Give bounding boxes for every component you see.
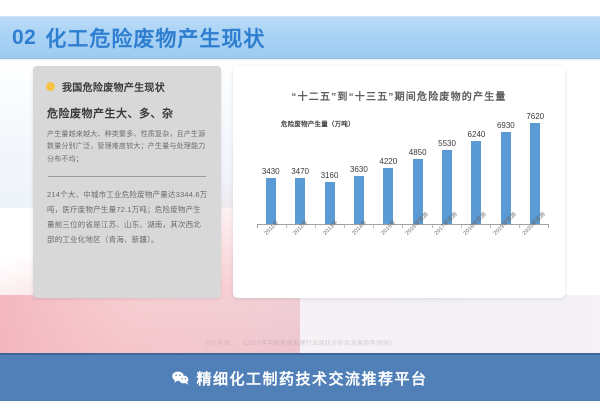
chart-card: “十二五”到“十三五”期间危险废物的产生量 危险废物产生量（万吨） 343034… xyxy=(233,66,565,298)
bar-column: 6240 xyxy=(463,112,490,224)
bar-value-label: 3630 xyxy=(350,165,368,174)
x-label-slot: 2016年预测 xyxy=(404,228,431,268)
bar-column: 3430 xyxy=(257,112,284,224)
x-label-slot: 2013年 xyxy=(316,228,343,268)
chart-plot-area: 3430347031603630422048505530624069307620 xyxy=(257,112,549,224)
bar-value-label: 5530 xyxy=(438,139,456,148)
section-number: 02 xyxy=(12,26,36,50)
info-panel-subheading: 危险废物产生大、多、杂 xyxy=(47,105,208,121)
bar-series: 3430347031603630422048505530624069307620 xyxy=(257,112,549,224)
bar-value-label: 6930 xyxy=(497,121,515,130)
chart-title: “十二五”到“十三五”期间危险废物的产生量 xyxy=(233,88,565,103)
x-label-slot: 2011年 xyxy=(257,228,284,268)
info-panel: 我国危险废物产生现状 危险废物产生大、多、杂 产生量越来越大、种类繁多、性质复杂… xyxy=(33,66,221,298)
info-panel-paragraph-2: 214个大、中城市工业危险废物产量达3344.6万吨，医疗废物产生量72.1万吨… xyxy=(47,187,208,247)
banner-shadow xyxy=(0,58,600,61)
info-panel-heading: 我国危险废物产生现状 xyxy=(62,79,165,94)
bar xyxy=(383,168,393,224)
bar-column: 6930 xyxy=(492,112,519,224)
bar-column: 4850 xyxy=(404,112,431,224)
x-label-slot: 2012年 xyxy=(286,228,313,268)
info-panel-heading-row: 我国危险废物产生现状 xyxy=(46,79,208,94)
bar-value-label: 3160 xyxy=(321,171,339,180)
header-banner: 02 化工危险废物产生现状 xyxy=(0,16,600,59)
bar-column: 4220 xyxy=(375,112,402,224)
x-label-slot: 2014年 xyxy=(345,228,372,268)
bar-column: 3470 xyxy=(286,112,313,224)
x-label-slot: 2018年预测 xyxy=(463,228,490,268)
watermark-source-label: 资料来源： xyxy=(205,341,237,347)
panel-divider xyxy=(48,176,206,177)
page-title: 化工危险废物产生现状 xyxy=(45,23,265,53)
source-watermark: 资料来源：《2016年中国危废处理行业现状分析及发展趋势预测》 xyxy=(205,338,396,347)
bar-column: 3630 xyxy=(345,112,372,224)
bar-value-label: 4220 xyxy=(379,157,397,166)
bar xyxy=(501,132,511,224)
footer-text: 精细化工制药技术交流推荐平台 xyxy=(196,368,427,389)
bar-value-label: 4850 xyxy=(409,148,427,157)
x-label-slot: 2015年 xyxy=(375,228,402,268)
chart-x-axis-labels: 2011年2012年2013年2014年2015年2016年预测2017年预测2… xyxy=(257,228,549,268)
bar-column: 3160 xyxy=(316,112,343,224)
bar xyxy=(530,123,540,224)
yellow-dot-icon xyxy=(46,82,55,91)
wechat-icon xyxy=(172,371,189,385)
x-label-slot: 2017年预测 xyxy=(433,228,460,268)
info-panel-paragraph-1: 产生量越来越大、种类繁多、性质复杂，且产生源数量分别广泛，管理难度较大；产生量与… xyxy=(47,129,208,166)
x-label-slot: 2020年预测 xyxy=(522,228,549,268)
bar-column: 7620 xyxy=(522,112,549,224)
slide-root: 02 化工危险废物产生现状 我国危险废物产生现状 危险废物产生大、多、杂 产生量… xyxy=(0,0,600,401)
bar-value-label: 3430 xyxy=(262,167,280,176)
bar-value-label: 3470 xyxy=(291,167,309,176)
bar-column: 5530 xyxy=(433,112,460,224)
watermark-text: 《2016年中国危废处理行业现状分析及发展趋势预测》 xyxy=(243,341,396,347)
bar-value-label: 6240 xyxy=(468,130,486,139)
x-label-slot: 2019年预测 xyxy=(492,228,519,268)
footer-bar: 精细化工制药技术交流推荐平台 xyxy=(0,353,600,401)
bar-value-label: 7620 xyxy=(526,112,544,121)
